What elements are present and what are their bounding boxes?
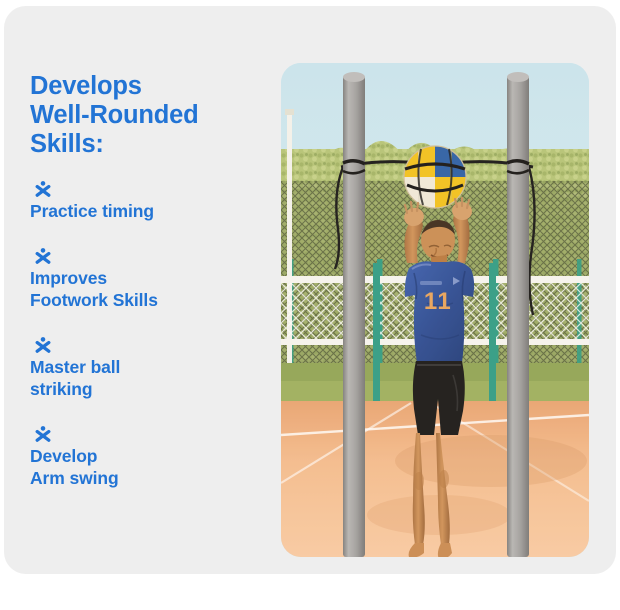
list-item-label: Master ball striking — [30, 356, 270, 400]
list-item: Improves Footwork Skills — [30, 248, 270, 311]
text-column: Develops Well-Rounded Skills: Practice t… — [30, 72, 270, 489]
training-photo: 11 — [281, 63, 589, 557]
list-item: Master ball striking — [30, 337, 270, 400]
list-item: Practice timing — [30, 181, 270, 222]
asterisk-x-icon — [34, 426, 52, 442]
asterisk-x-icon — [34, 248, 52, 264]
list-item-label: Develop Arm swing — [30, 445, 270, 489]
list-item-label: Practice timing — [30, 200, 270, 222]
asterisk-x-icon — [34, 181, 52, 197]
content-card: Develops Well-Rounded Skills: Practice t… — [4, 6, 616, 574]
list-item: Develop Arm swing — [30, 426, 270, 489]
list-item-label: Improves Footwork Skills — [30, 267, 270, 311]
benefits-list: Practice timing Improves Footwork Skills — [30, 181, 270, 489]
asterisk-x-icon — [34, 337, 52, 353]
page-title: Develops Well-Rounded Skills: — [30, 72, 270, 159]
